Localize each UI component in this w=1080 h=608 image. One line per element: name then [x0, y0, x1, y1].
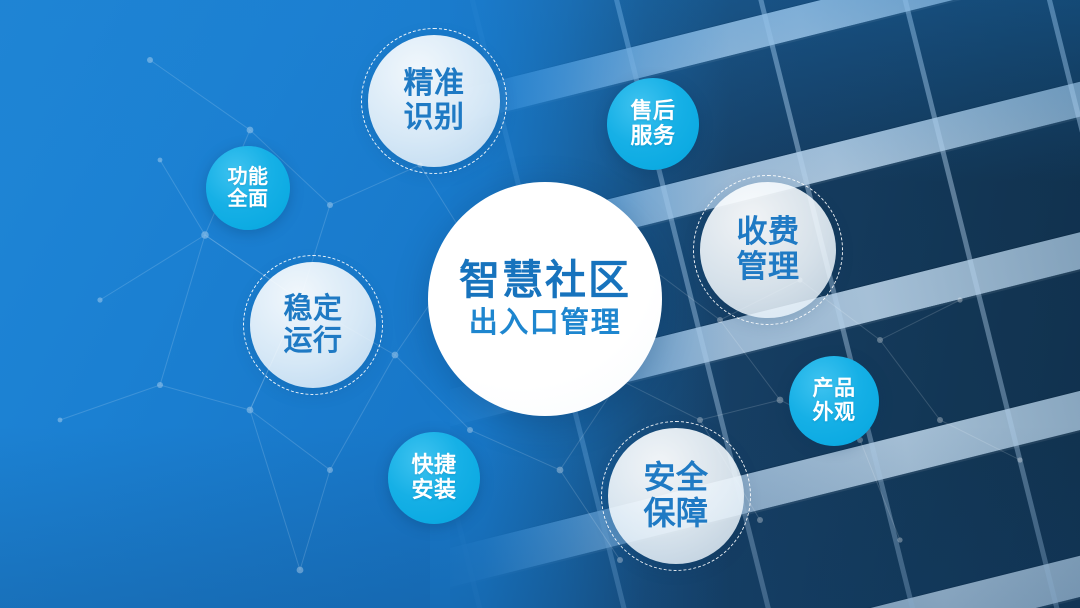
bubble-label-line1: 稳定: [283, 293, 342, 325]
bubble-label-line2: 全面: [228, 188, 269, 210]
feature-bubble-jingzhun-shibie[interactable]: 精准识别: [368, 35, 500, 167]
feature-bubble-wending-yunxing[interactable]: 稳定运行: [250, 262, 376, 388]
center-title-line2: 出入口管理: [469, 307, 622, 339]
bubble-label-line1: 售后: [630, 99, 675, 124]
feature-bubble-kuaijie-anzhuang[interactable]: 快捷安装: [388, 432, 480, 524]
center-bubble-smart-community[interactable]: 智慧社区 出入口管理: [428, 182, 662, 416]
bubble-label-line2: 运行: [283, 325, 342, 357]
bubble-label-line2: 管理: [737, 250, 800, 285]
feature-bubble-shouhou-fuwu[interactable]: 售后服务: [607, 78, 699, 170]
bubble-label-line1: 快捷: [411, 453, 456, 478]
bubble-label-line1: 收费: [737, 215, 800, 250]
bubble-label-line2: 识别: [404, 101, 465, 135]
bubble-label-line2: 保障: [643, 496, 708, 532]
feature-bubble-shoufei-guanli[interactable]: 收费管理: [700, 182, 836, 318]
bubble-label-line2: 安装: [411, 478, 456, 503]
bubble-label-line1: 精准: [404, 67, 465, 101]
feature-bubble-gongneng-quanmian[interactable]: 功能全面: [206, 146, 290, 230]
bubble-label-line1: 功能: [228, 166, 269, 188]
feature-bubble-chanpin-waiguan[interactable]: 产品外观: [789, 356, 879, 446]
feature-bubble-anquan-baozhang[interactable]: 安全保障: [608, 428, 744, 564]
bubble-label-line1: 安全: [643, 460, 708, 496]
slide-canvas: 精准识别功能全面售后服务收费管理稳定运行产品外观快捷安装安全保障 智慧社区 出入…: [0, 0, 1080, 608]
center-title-line1: 智慧社区: [459, 258, 631, 304]
bubble-label-line2: 外观: [813, 401, 856, 425]
bubble-label-line2: 服务: [630, 124, 675, 149]
bubble-label-line1: 产品: [813, 377, 856, 401]
